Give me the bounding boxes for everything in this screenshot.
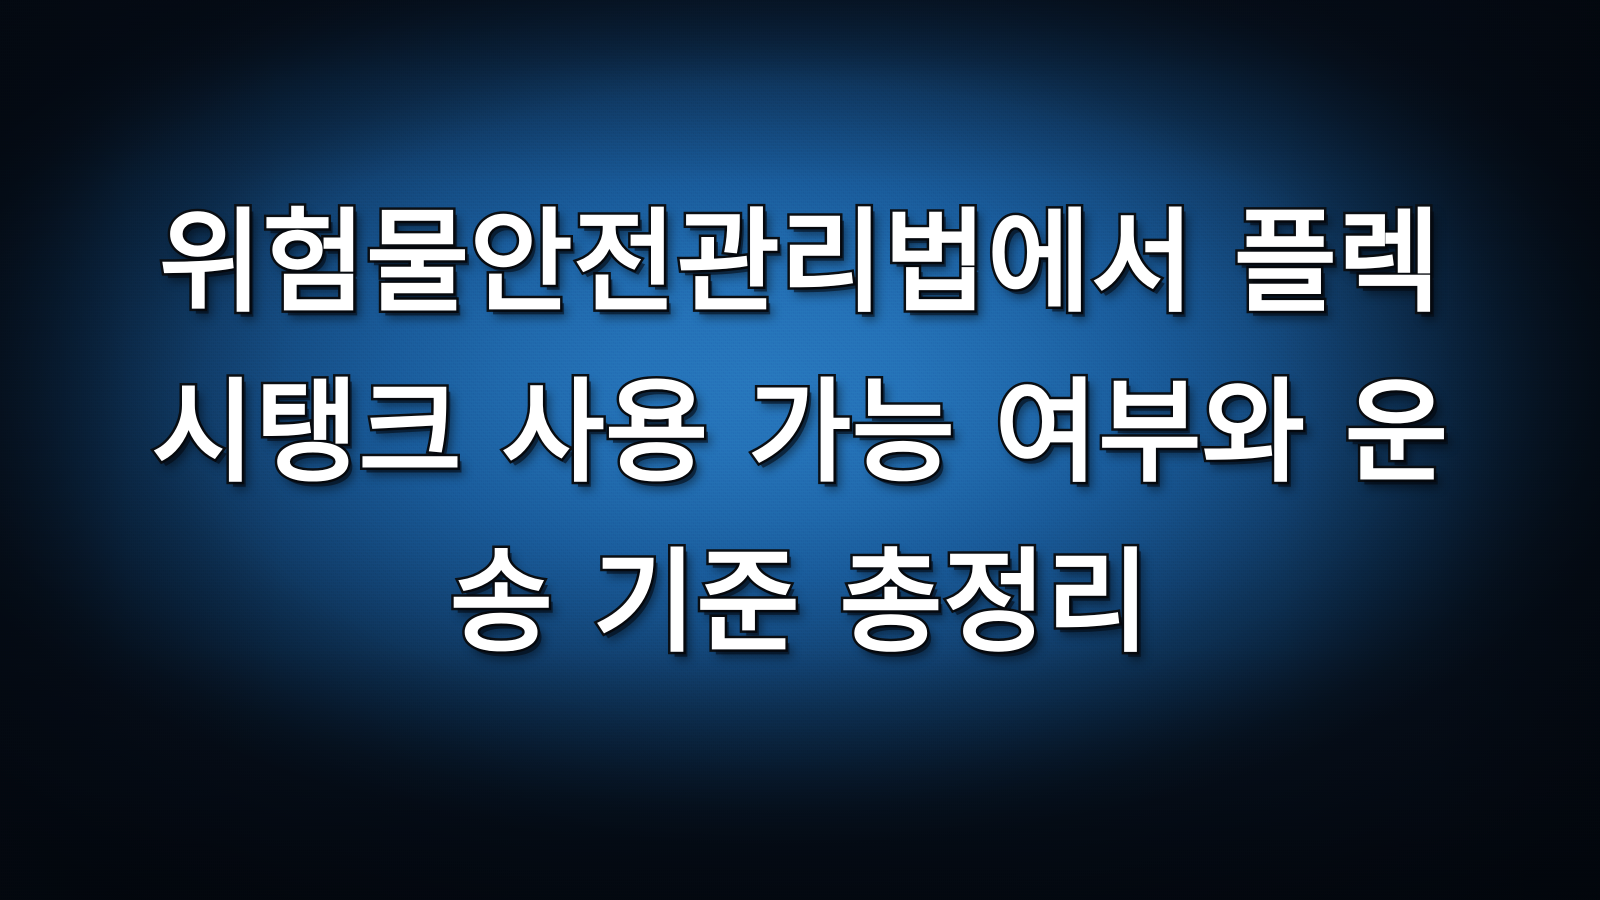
title-line-3: 송 기준 총정리 [72,518,1528,688]
page-title: 위험물안전관리법에서 플렉 시탱크 사용 가능 여부와 운 송 기준 총정리 [0,178,1600,688]
title-line-1: 위험물안전관리법에서 플렉 [72,178,1528,348]
title-line-2: 시탱크 사용 가능 여부와 운 [72,348,1528,518]
title-slide: 위험물안전관리법에서 플렉 시탱크 사용 가능 여부와 운 송 기준 총정리 [0,0,1600,900]
